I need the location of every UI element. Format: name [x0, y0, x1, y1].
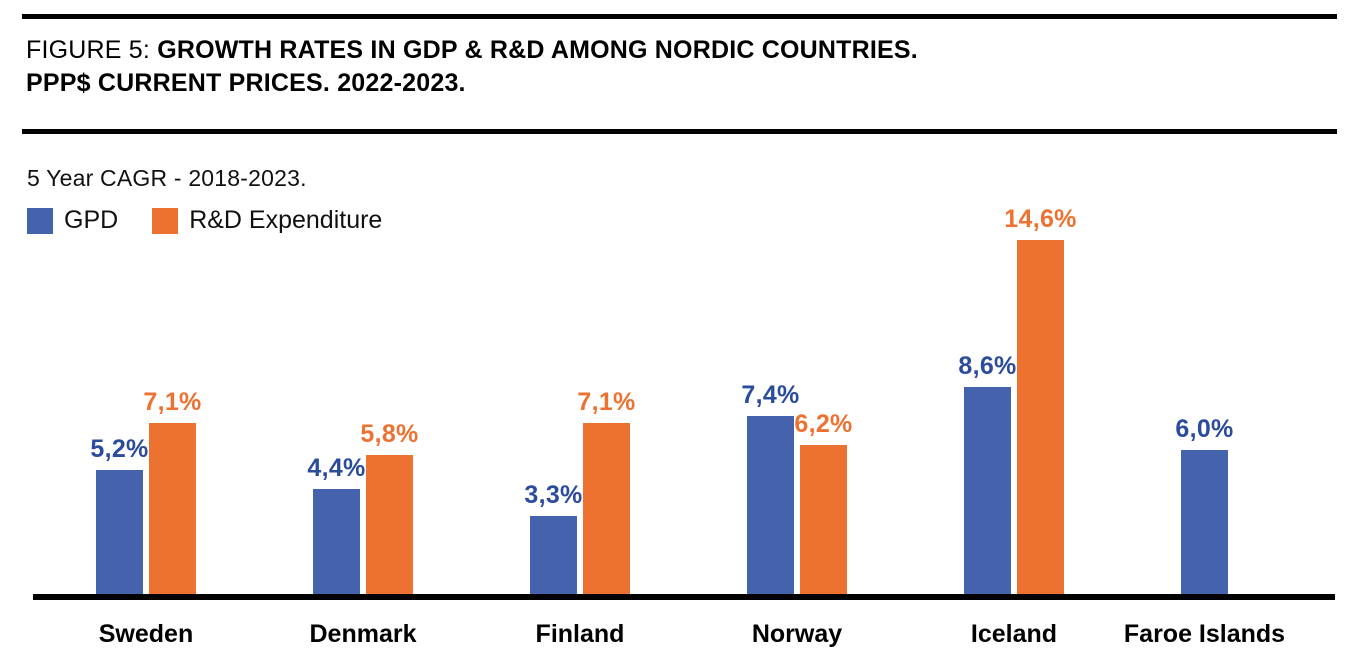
bar-norway-rd[interactable]: 6,2%: [800, 200, 847, 597]
figure-page: FIGURE 5: GROWTH RATES IN GDP & R&D AMON…: [0, 0, 1356, 660]
bar-iceland-gdp[interactable]: 8,6%: [964, 200, 1011, 597]
category-label-faroe-islands: Faroe Islands: [1075, 620, 1335, 649]
bar-norway-gdp[interactable]: 7,4%: [747, 200, 794, 597]
bar-rect: [366, 455, 413, 597]
x-axis-line: [33, 594, 1335, 600]
bar-denmark-gdp[interactable]: 4,4%: [313, 200, 360, 597]
figure-title: FIGURE 5: GROWTH RATES IN GDP & R&D AMON…: [26, 34, 1326, 99]
bar-rect: [1181, 450, 1228, 597]
bar-rect: [530, 516, 577, 597]
bar-chart-plot-area: 5,2%7,1%4,4%5,8%3,3%7,1%7,4%6,2%8,6%14,6…: [33, 200, 1335, 597]
bar-iceland-rd[interactable]: 14,6%: [1017, 200, 1064, 597]
bar-rect: [96, 470, 143, 597]
chart-subtitle: 5 Year CAGR - 2018-2023.: [27, 165, 307, 192]
bar-rect: [583, 423, 630, 597]
bar-value-label: 6,2%: [744, 410, 904, 439]
title-line-2: PPP$ CURRENT PRICES. 2022-2023.: [26, 67, 1326, 100]
figure-title-text-1: GROWTH RATES IN GDP & R&D AMONG NORDIC C…: [157, 36, 918, 64]
title-line-1: FIGURE 5: GROWTH RATES IN GDP & R&D AMON…: [26, 34, 1326, 67]
bar-faroe-islands-gdp[interactable]: 6,0%: [1181, 200, 1228, 597]
figure-title-text-2: PPP$ CURRENT PRICES. 2022-2023.: [26, 69, 466, 97]
bar-rect: [1017, 240, 1064, 597]
bar-finland-rd[interactable]: 7,1%: [583, 200, 630, 597]
bar-rect: [149, 423, 196, 597]
category-axis-labels: SwedenDenmarkFinlandNorwayIcelandFaroe I…: [33, 620, 1335, 660]
bar-sweden-rd[interactable]: 7,1%: [149, 200, 196, 597]
bar-rect: [313, 489, 360, 597]
figure-number-label: FIGURE 5:: [26, 36, 150, 64]
top-divider: [22, 14, 1337, 19]
bar-value-label: 7,1%: [527, 388, 687, 417]
bar-denmark-rd[interactable]: 5,8%: [366, 200, 413, 597]
bar-rect: [800, 445, 847, 597]
bar-value-label: 5,8%: [310, 420, 470, 449]
title-divider: [22, 129, 1337, 134]
bar-value-label: 14,6%: [961, 205, 1121, 234]
bar-value-label: 7,1%: [93, 388, 253, 417]
bar-value-label: 6,0%: [1125, 415, 1285, 444]
bar-rect: [747, 416, 794, 597]
bar-rect: [964, 387, 1011, 597]
